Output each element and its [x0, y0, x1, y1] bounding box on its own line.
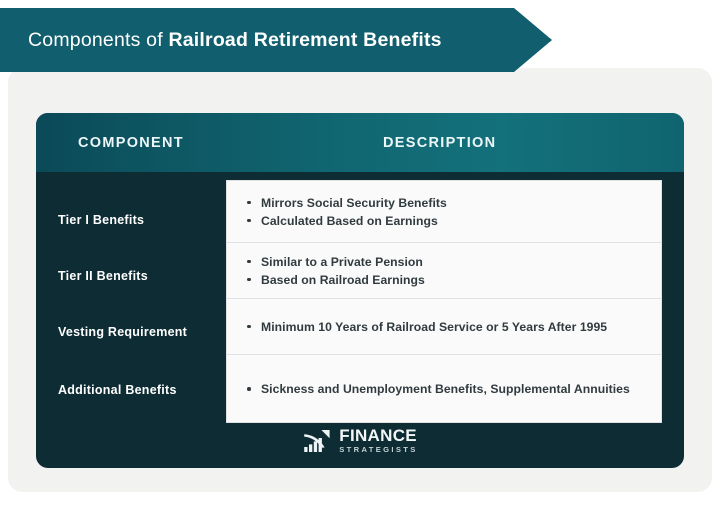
- logo-wordmark: FINANCE STRATEGISTS: [339, 427, 417, 454]
- bullet-list: Sickness and Unemployment Benefits, Supp…: [227, 380, 661, 398]
- brand-logo: FINANCE STRATEGISTS: [36, 427, 684, 454]
- page-title: Components of Railroad Retirement Benefi…: [28, 29, 442, 52]
- column-header-description: DESCRIPTION: [383, 135, 496, 151]
- component-column: Tier I Benefits Tier II Benefits Vesting…: [36, 172, 226, 468]
- bullet-dot-icon: [247, 278, 251, 282]
- description-column: Mirrors Social Security Benefits Calcula…: [226, 180, 662, 423]
- table-body: Tier I Benefits Tier II Benefits Vesting…: [36, 172, 684, 468]
- list-item-label: Based on Railroad Earnings: [261, 273, 425, 287]
- list-item: Similar to a Private Pension: [261, 253, 645, 271]
- list-item: Minimum 10 Years of Railroad Service or …: [261, 318, 645, 336]
- bullet-dot-icon: [247, 387, 251, 391]
- description-cell: Mirrors Social Security Benefits Calcula…: [227, 181, 661, 243]
- bullet-dot-icon: [247, 201, 251, 205]
- list-item-label: Similar to a Private Pension: [261, 255, 423, 269]
- logo-tagline: STRATEGISTS: [339, 446, 417, 454]
- list-item-label: Calculated Based on Earnings: [261, 214, 438, 228]
- description-cell: Sickness and Unemployment Benefits, Supp…: [227, 355, 661, 423]
- logo-name: FINANCE: [339, 427, 417, 444]
- list-item: Calculated Based on Earnings: [261, 212, 645, 230]
- list-item-label: Mirrors Social Security Benefits: [261, 196, 447, 210]
- table-row: Tier II Benefits: [58, 269, 148, 283]
- title-banner: Components of Railroad Retirement Benefi…: [0, 8, 552, 72]
- bullet-list: Similar to a Private Pension Based on Ra…: [227, 253, 661, 289]
- bullet-dot-icon: [247, 325, 251, 329]
- description-cell: Similar to a Private Pension Based on Ra…: [227, 243, 661, 299]
- benefits-card: COMPONENT DESCRIPTION Tier I Benefits Ti…: [36, 113, 684, 468]
- description-cell: Minimum 10 Years of Railroad Service or …: [227, 299, 661, 355]
- page-title-strong: Railroad Retirement Benefits: [168, 29, 441, 51]
- list-item: Mirrors Social Security Benefits: [261, 194, 645, 212]
- bullet-dot-icon: [247, 260, 251, 264]
- bullet-list: Minimum 10 Years of Railroad Service or …: [227, 318, 661, 336]
- bullet-list: Mirrors Social Security Benefits Calcula…: [227, 194, 661, 230]
- list-item: Sickness and Unemployment Benefits, Supp…: [261, 380, 645, 398]
- list-item: Based on Railroad Earnings: [261, 271, 645, 289]
- table-row: Additional Benefits: [58, 383, 177, 397]
- list-item-label: Minimum 10 Years of Railroad Service or …: [261, 320, 607, 334]
- table-header: COMPONENT DESCRIPTION: [36, 113, 684, 172]
- page-title-lead: Components of: [28, 29, 168, 51]
- bullet-dot-icon: [247, 219, 251, 223]
- column-header-component: COMPONENT: [78, 135, 184, 151]
- list-item-label: Sickness and Unemployment Benefits, Supp…: [261, 382, 630, 396]
- table-row: Tier I Benefits: [58, 213, 144, 227]
- table-row: Vesting Requirement: [58, 325, 187, 339]
- bar-chart-arc-icon: [302, 428, 332, 454]
